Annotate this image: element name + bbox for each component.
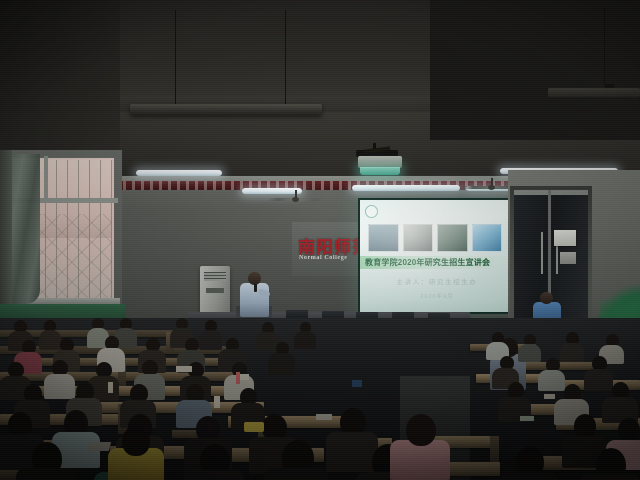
water-bottle [214,396,220,408]
bench-support [490,436,499,462]
pendant-wire-right [285,10,286,106]
door-handle-left[interactable] [541,232,543,274]
paper-sheet [176,366,192,372]
ac-control-panel[interactable] [206,288,224,293]
paper-sheet [316,414,332,420]
pendant-wire-far-right [604,8,605,86]
curtain-edge [0,150,12,326]
paper-sheet [520,416,534,421]
screen-glare [360,200,508,312]
lecture-hall-photo: 南阳师范 Normal College 教育学院2020年研究生招生宣讲会 主讲… [0,0,640,480]
desk-row [520,362,600,370]
yellow-bag [244,422,264,432]
projected-slide: 教育学院2020年研究生招生宣讲会 主讲人：研究生招生办 2020年9月 [360,200,508,312]
phone [352,380,362,387]
projector-lamp-glow [360,167,400,175]
ceiling-shadow-right [430,0,640,140]
drink-cup [236,372,240,384]
ac-vent-grille [204,272,226,281]
fluorescent-tube-3 [352,185,460,191]
microphone [254,284,257,292]
pendant-light-fixture-right [548,88,640,97]
fluorescent-tube-1 [136,170,222,176]
projection-screen: 教育学院2020年研究生招生宣讲会 主讲人：研究生招生办 2020年9月 [358,198,510,314]
notice-paper [554,230,576,246]
open-notebook [87,442,111,451]
audience-area [0,318,640,480]
standing-man-head [540,292,553,304]
water-bottle [108,382,113,393]
paper-sheet [544,394,555,399]
window-mullion-vertical [44,156,48,200]
pendant-light-fixture [130,104,322,115]
pendant-wire-left [175,10,176,106]
fluorescent-tube-2 [242,188,302,194]
door-header-trim [514,190,588,195]
ceiling-shadow-left [0,0,120,150]
wall-switch-plate[interactable] [560,252,576,264]
